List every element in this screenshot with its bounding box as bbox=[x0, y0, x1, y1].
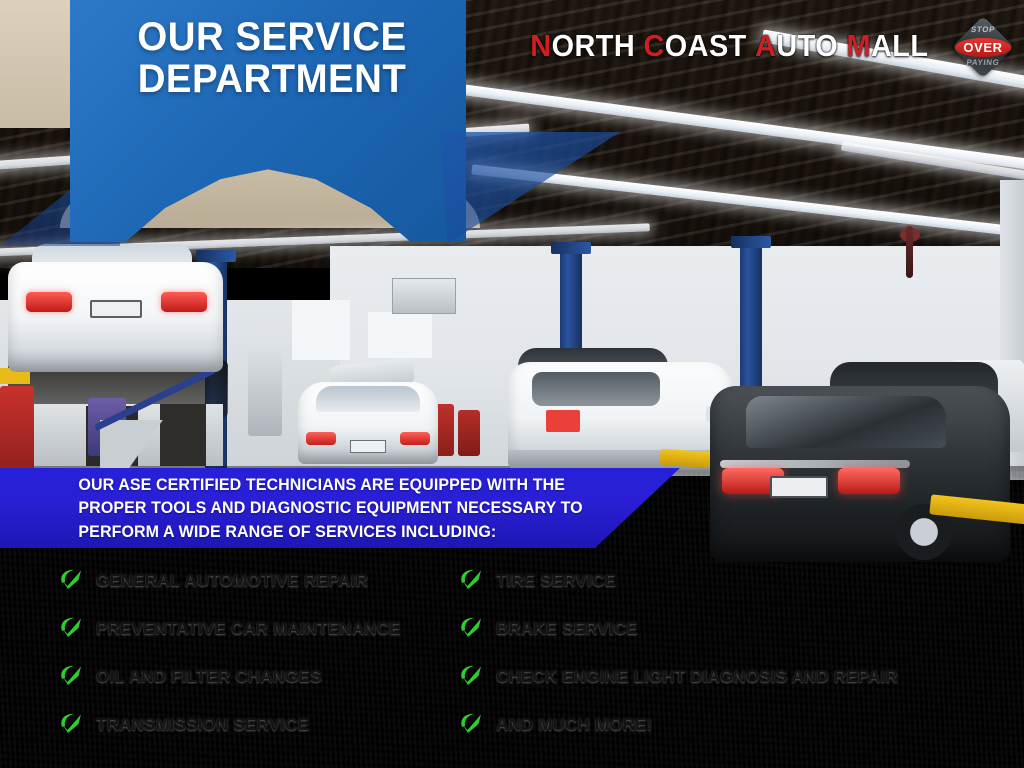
wall-panel bbox=[368, 312, 432, 358]
list-item[interactable]: TIRE SERVICE bbox=[458, 556, 1018, 604]
service-label: BRAKE SERVICE bbox=[496, 618, 638, 639]
check-icon bbox=[458, 663, 484, 689]
service-label: OIL AND FILTER CHANGES bbox=[96, 666, 322, 687]
license-plate bbox=[350, 440, 386, 453]
license-plate bbox=[90, 300, 142, 318]
service-label: TIRE SERVICE bbox=[496, 570, 616, 591]
banner-line-3: PERFORM A WIDE RANGE OF SERVICES INCLUDI… bbox=[78, 521, 621, 544]
services-checklist: GENERAL AUTOMOTIVE REPAIR PREVENTATIVE C… bbox=[0, 556, 1024, 746]
badge-line-stop: STOP bbox=[953, 25, 1012, 34]
banner-line-2: PROPER TOOLS AND DIAGNOSTIC EQUIPMENT NE… bbox=[78, 497, 621, 520]
white-sedan-on-lift bbox=[8, 262, 223, 372]
headlight bbox=[306, 432, 336, 445]
taillight bbox=[161, 292, 207, 312]
dark-sedan-on-lift bbox=[710, 386, 1010, 562]
list-item[interactable]: GENERAL AUTOMOTIVE REPAIR bbox=[58, 556, 478, 604]
headlight bbox=[400, 432, 430, 445]
taillight bbox=[838, 468, 900, 494]
service-label: GENERAL AUTOMOTIVE REPAIR bbox=[96, 570, 368, 591]
tool-cabinet bbox=[248, 344, 282, 436]
service-label: AND MUCH MORE! bbox=[496, 714, 652, 735]
white-sedan-center bbox=[298, 382, 438, 464]
red-tool-chest bbox=[0, 386, 34, 478]
check-icon bbox=[458, 615, 484, 641]
hvac-unit bbox=[392, 278, 456, 314]
logo-word-coast: COAST bbox=[643, 28, 746, 63]
check-icon bbox=[58, 711, 84, 737]
logo-word-auto: AUTO bbox=[755, 28, 838, 63]
badge-line-over: OVER bbox=[954, 40, 1012, 55]
list-item[interactable]: TRANSMISSION SERVICE bbox=[58, 700, 478, 748]
logo-word-mall: MALL bbox=[846, 28, 928, 63]
check-icon bbox=[58, 615, 84, 641]
logo-rest: UTO bbox=[776, 28, 838, 63]
logo-cap: M bbox=[846, 28, 870, 63]
statement-banner-text: OUR ASE CERTIFIED TECHNICIANS ARE EQUIPP… bbox=[78, 474, 621, 544]
check-icon bbox=[458, 567, 484, 593]
air-hose bbox=[906, 226, 913, 278]
page-title: OUR SERVICE DEPARTMENT bbox=[99, 18, 445, 220]
list-item[interactable]: CHECK ENGINE LIGHT DIAGNOSIS AND REPAIR bbox=[458, 652, 1018, 700]
check-icon bbox=[58, 663, 84, 689]
taillight bbox=[26, 292, 72, 312]
check-icon bbox=[58, 567, 84, 593]
service-department-slide: OUR SERVICE DEPARTMENT NORTHCOASTAUTOMAL… bbox=[0, 0, 1024, 768]
list-item[interactable]: PREVENTATIVE CAR MAINTENANCE bbox=[58, 604, 478, 652]
license-plate bbox=[546, 410, 580, 432]
logo-rest: ALL bbox=[871, 28, 928, 63]
windshield bbox=[316, 386, 420, 412]
chrome-trim bbox=[720, 460, 910, 468]
services-column-right: TIRE SERVICE BRAKE SERVICE bbox=[458, 556, 1018, 748]
brand-logo[interactable]: NORTHCOASTAUTOMALL STOP OVER PAYING bbox=[515, 24, 1012, 68]
logo-cap: N bbox=[530, 28, 551, 63]
logo-rest: ORTH bbox=[551, 28, 635, 63]
check-icon bbox=[458, 711, 484, 737]
service-label: TRANSMISSION SERVICE bbox=[96, 714, 309, 735]
hero-title-line-1: OUR SERVICE bbox=[137, 15, 406, 59]
logo-cap: A bbox=[755, 28, 776, 63]
license-plate bbox=[770, 476, 828, 498]
list-item[interactable]: BRAKE SERVICE bbox=[458, 604, 1018, 652]
badge-line-paying: PAYING bbox=[953, 58, 1012, 67]
hero-title-line-2: DEPARTMENT bbox=[99, 60, 445, 220]
services-column-left: GENERAL AUTOMOTIVE REPAIR PREVENTATIVE C… bbox=[58, 556, 478, 748]
rear-window bbox=[746, 396, 946, 448]
brand-logo-text: NORTHCOASTAUTOMALL bbox=[530, 28, 937, 64]
rear-window bbox=[532, 372, 660, 406]
logo-word-north: NORTH bbox=[530, 28, 635, 63]
banner-line-1: OUR ASE CERTIFIED TECHNICIANS ARE EQUIPP… bbox=[78, 474, 621, 497]
service-label: CHECK ENGINE LIGHT DIAGNOSIS AND REPAIR bbox=[496, 666, 898, 687]
logo-cap: C bbox=[643, 28, 664, 63]
red-equipment bbox=[458, 410, 480, 456]
list-item[interactable]: AND MUCH MORE! bbox=[458, 700, 1018, 748]
wall-panel bbox=[292, 300, 350, 360]
list-item[interactable]: OIL AND FILTER CHANGES bbox=[58, 652, 478, 700]
service-label: PREVENTATIVE CAR MAINTENANCE bbox=[96, 618, 401, 639]
logo-rest: OAST bbox=[665, 28, 747, 63]
stop-over-paying-badge-icon: STOP OVER PAYING bbox=[954, 18, 1012, 76]
